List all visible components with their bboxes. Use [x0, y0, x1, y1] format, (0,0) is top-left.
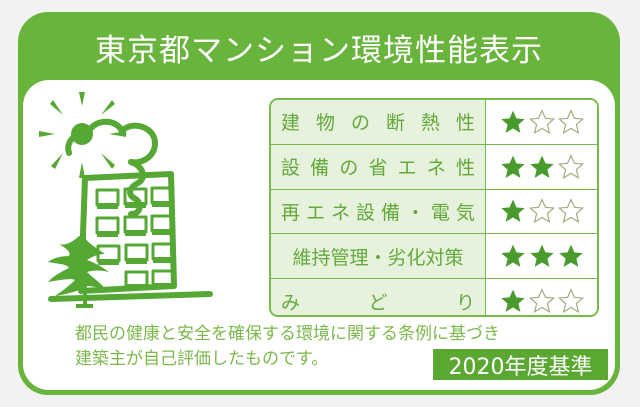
disclaimer-line-1: 都民の健康と安全を確保する環境に関する条例に基づき [75, 322, 500, 347]
star-filled-icon [529, 243, 555, 269]
star-filled-icon [558, 243, 584, 269]
standard-year-badge: 2020年度基準 [433, 349, 608, 380]
star-empty-icon [529, 198, 555, 224]
rating-stars-energy-saving [486, 145, 597, 189]
rating-label-energy-saving: 設 備 の 省 エ ネ 性 [271, 145, 486, 189]
star-empty-icon [558, 288, 584, 314]
rating-stars-maintenance [486, 234, 597, 278]
rating-label-maintenance: 維持管理・劣化対策 [271, 234, 486, 278]
page-title: 東京都マンション環境性能表示 [95, 25, 543, 70]
rating-stars-renewable-energy [486, 190, 597, 234]
table-row: 建 物 の 断 熱 性 [271, 100, 597, 145]
label-title-bar: 東京都マンション環境性能表示 [18, 12, 620, 82]
table-row: み ど り [271, 279, 597, 317]
star-empty-icon [529, 288, 555, 314]
rating-label-insulation: 建 物 の 断 熱 性 [271, 100, 486, 144]
rating-table: 建 物 の 断 熱 性 設 備 の 省 [269, 98, 599, 317]
star-empty-icon [558, 154, 584, 180]
rating-label-greenery: み ど り [271, 279, 486, 317]
star-filled-icon [529, 154, 555, 180]
star-filled-icon [500, 109, 526, 135]
star-empty-icon [558, 198, 584, 224]
star-filled-icon [500, 288, 526, 314]
star-filled-icon [500, 154, 526, 180]
rating-label-renewable-energy: 再 エ ネ 設 備 ・ 電 気 [271, 190, 486, 234]
illustration [35, 86, 260, 321]
table-row: 設 備 の 省 エ ネ 性 [271, 145, 597, 190]
label-footer: 都民の健康と安全を確保する環境に関する条例に基づき 建築主が自己評価したものです… [23, 322, 615, 386]
table-row: 維持管理・劣化対策 [271, 234, 597, 279]
star-empty-icon [558, 109, 584, 135]
star-filled-icon [500, 243, 526, 269]
rating-stars-insulation [486, 100, 597, 144]
environmental-performance-label: 東京都マンション環境性能表示 [18, 12, 620, 395]
star-empty-icon [529, 109, 555, 135]
star-filled-icon [500, 198, 526, 224]
label-inner-panel: 建 物 の 断 熱 性 設 備 の 省 [23, 80, 615, 390]
rating-stars-greenery [486, 279, 597, 317]
table-row: 再 エ ネ 設 備 ・ 電 気 [271, 190, 597, 235]
